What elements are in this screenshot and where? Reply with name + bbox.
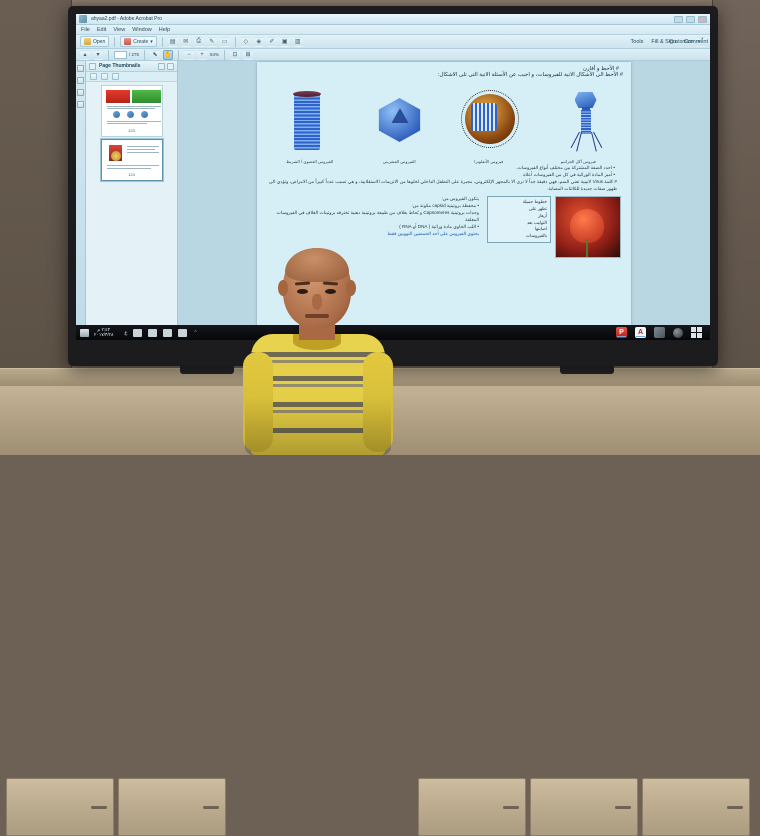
panel-close-icon[interactable] [167, 63, 174, 70]
figure-caption: فيروس آكل الجراثيم [535, 159, 623, 164]
tab-comment[interactable]: Comment [684, 39, 708, 45]
cabinet-door[interactable] [118, 778, 226, 836]
page-total-label: / 275 [129, 52, 139, 57]
figure-influenza: فيروس الأنفلونزا [445, 82, 533, 164]
virus-figure-row: فيروس آكل الجراثيم فيروس الأنفلونزا [263, 80, 625, 164]
tab-fill-sign[interactable]: Fill & Sign [651, 39, 676, 45]
maximize-icon[interactable] [686, 16, 695, 23]
helical-capsid [294, 94, 320, 150]
tv-stand-left [180, 366, 234, 374]
minimize-icon[interactable] [674, 16, 683, 23]
cabinet-door[interactable] [642, 778, 750, 836]
open-label: Open [93, 39, 105, 45]
menu-file[interactable]: File [81, 27, 90, 33]
wall-left [0, 0, 72, 372]
close-icon[interactable] [698, 16, 707, 23]
tv-bezel-bottom [76, 314, 710, 340]
adobe-acrobat-window: ahyaa2.pdf - Adobe Acrobat Pro File Edit… [76, 14, 710, 340]
hand-tool-icon[interactable]: ✋ [163, 50, 173, 60]
thumbnails-toolbar [86, 72, 177, 82]
arrow-down-icon[interactable]: ▾ [93, 50, 103, 60]
create-button[interactable]: Create ▾ [120, 36, 157, 47]
thumbnail-preview [103, 87, 161, 127]
folder-icon [84, 38, 91, 45]
caption-line: اصابتها [491, 226, 547, 233]
link-icon[interactable]: ◇ [241, 37, 251, 47]
figure-caption: فيروس الأنفلونزا [445, 159, 533, 164]
toolbar-divider [114, 37, 115, 47]
sign-icon[interactable]: ✐ [267, 37, 277, 47]
phage-tail [581, 110, 591, 134]
helical-top [293, 91, 321, 97]
right-task-tabs: Tools Fill & Sign Comment [631, 39, 708, 45]
navigation-rail [76, 61, 86, 331]
thumbnail-number: 123 [103, 128, 161, 133]
cabinet-door[interactable] [530, 778, 638, 836]
menu-view[interactable]: View [113, 27, 125, 33]
tulip-bloom [570, 209, 604, 243]
influenza-core [471, 103, 497, 131]
more-icon[interactable]: ▥ [293, 37, 303, 47]
thumbnails-header-buttons [158, 63, 174, 70]
composition-item: يحتوي الفيروس على أحد الحمضين النوويين ف… [267, 231, 479, 238]
window-title: ahyaa2.pdf - Adobe Acrobat Pro [91, 16, 162, 22]
chevron-down-icon: ▾ [150, 39, 153, 45]
acrobat-icon [79, 15, 87, 23]
signatures-icon[interactable] [77, 101, 84, 108]
page-navigation-toolbar: ▴ ▾ / 275 ⬉ ✋ − + 54% ⊡ ⊞ [76, 49, 710, 61]
highlight-icon[interactable]: ✎ [207, 37, 217, 47]
wall-mounted-display: ahyaa2.pdf - Adobe Acrobat Pro File Edit… [68, 6, 718, 366]
caption-line: تظهر على [491, 206, 547, 213]
composition-item: وحدات بروتينية Capsomeres و يُحاط بغلاف … [267, 210, 479, 224]
virus-definition-paragraph: # كلمة Virus لاتينية تعني السم، فهي دقيق… [263, 178, 625, 193]
options-icon[interactable] [158, 63, 165, 70]
fit-width-icon[interactable]: ⊞ [243, 50, 253, 60]
create-label: Create [133, 39, 148, 45]
composition-column: يتكون الفيروس من: • محفظة بروتينية capsi… [267, 196, 483, 237]
open-button[interactable]: Open [80, 36, 109, 47]
nose [312, 294, 322, 310]
cabinet-door[interactable] [6, 778, 114, 836]
caption-line: بالفيروسات [491, 233, 547, 240]
right-eye [325, 289, 336, 294]
thumb-logo [111, 151, 121, 161]
comment-icon[interactable]: ▭ [220, 37, 230, 47]
wall-right [712, 0, 760, 372]
select-tool-icon[interactable]: ⬉ [150, 50, 160, 60]
menu-window[interactable]: Window [132, 27, 152, 33]
page-thumbnails-icon [89, 63, 96, 70]
save-icon[interactable]: ▤ [168, 37, 178, 47]
page-thumbnails-icon[interactable] [77, 65, 84, 72]
figure-helical: الفيروس العصوي / الشريط [266, 82, 354, 164]
window-controls [674, 16, 707, 23]
menu-bar: File Edit View Window Help [76, 25, 710, 35]
cabinet-door[interactable] [418, 778, 526, 836]
thumbnails-title: Page Thumbnails [99, 63, 140, 69]
thumbnail-number: 124 [103, 172, 161, 177]
question-bullets: • احدد الصفة المشتركة بين مختلف أنواع ال… [263, 164, 625, 178]
toolbar-divider [108, 50, 109, 60]
thumbnail-page[interactable]: 123 [101, 85, 163, 137]
page-current-input[interactable] [114, 51, 127, 59]
menu-help[interactable]: Help [159, 27, 170, 33]
scalp [285, 248, 349, 282]
caption-line: أزهار [491, 213, 547, 220]
figure-bacteriophage: فيروس آكل الجراثيم [535, 82, 623, 164]
photo-caption-box: خطوط جميلة تظهر على أزهار التوليب بعد اص… [487, 196, 551, 243]
figure-caption: الفيروس العصوي / الشريط [266, 159, 354, 164]
document-heading-1: # الأحظ و أقارن [263, 65, 625, 72]
figure-caption: الفيروس العشريني [356, 159, 444, 164]
thumbnails-header: Page Thumbnails [86, 61, 177, 72]
thumb-green-block [132, 90, 161, 103]
composition-item: • محفظة بروتينية capsid مكونة من: [267, 203, 479, 210]
sweater-stripe [251, 352, 385, 357]
caption-line: خطوط جميلة [491, 199, 547, 206]
figure-icosahedral: الفيروس العشريني [356, 82, 444, 164]
composition-intro: يتكون الفيروس من: [267, 196, 479, 203]
thumbnail-preview [103, 141, 161, 171]
mouth [305, 314, 329, 318]
left-eye [297, 289, 308, 294]
toolbar-divider [235, 37, 236, 47]
bullet-item: • احدد الصفة المشتركة بين مختلف أنواع ال… [267, 165, 615, 172]
left-ear [278, 280, 288, 296]
tab-tools[interactable]: Tools [631, 39, 644, 45]
tulip-photo [555, 196, 621, 258]
zoom-in-thumb-icon[interactable] [112, 73, 119, 80]
tulip-stem [586, 239, 588, 257]
stamp-icon[interactable]: ◈ [254, 37, 264, 47]
display-screen: ahyaa2.pdf - Adobe Acrobat Pro File Edit… [76, 14, 710, 340]
thumbnail-options-icon[interactable] [90, 73, 97, 80]
menu-edit[interactable]: Edit [97, 27, 106, 33]
thumbnails-list[interactable]: 123 124 [86, 82, 177, 331]
zoom-out-thumb-icon[interactable] [101, 73, 108, 80]
toolbar-divider [178, 50, 179, 60]
presenter [243, 248, 393, 455]
tv-stand-right [560, 366, 614, 374]
create-pdf-icon [124, 38, 131, 45]
workspace: Page Thumbnails [76, 61, 710, 331]
bookmarks-icon[interactable] [77, 77, 84, 84]
body-shading [245, 398, 391, 455]
toolbar-divider [144, 50, 145, 60]
page-thumbnails-panel: Page Thumbnails [86, 61, 178, 331]
fit-page-icon[interactable]: ⊡ [230, 50, 240, 60]
caption-line: التوليب بعد [491, 220, 547, 227]
print-icon[interactable]: ⎙ [194, 37, 204, 47]
zoom-level-value[interactable]: 54% [210, 52, 219, 57]
attach-icon[interactable]: ▣ [280, 37, 290, 47]
window-titlebar: ahyaa2.pdf - Adobe Acrobat Pro [76, 14, 710, 25]
thumbnail-page[interactable]: 124 [101, 139, 163, 181]
page-number-field[interactable]: / 275 [114, 51, 139, 59]
phage-head [575, 92, 597, 108]
toolbar-divider [162, 37, 163, 47]
attachments-icon[interactable] [77, 89, 84, 96]
main-toolbar: Open Create ▾ ▤ ✉ ⎙ ✎ ▭ ◇ ◈ ✐ ▣ ▥ [76, 35, 710, 49]
zoom-in-button[interactable]: + [197, 50, 207, 60]
zoom-out-button[interactable]: − [184, 50, 194, 60]
email-icon[interactable]: ✉ [181, 37, 191, 47]
arrow-up-icon[interactable]: ▴ [80, 50, 90, 60]
toolbar-divider [224, 50, 225, 60]
document-heading-2: # الأحظ الى الأشكال الاتية للفيروسات، و … [263, 72, 625, 80]
right-ear [346, 280, 356, 296]
bullet-item: • أميز المادة الوراثية في كل من الفيروسا… [267, 172, 615, 179]
thumb-red-block [106, 90, 130, 103]
composition-item: • اللب الحاوي مادة وراثية ( DNA أو RNA ) [267, 224, 479, 231]
